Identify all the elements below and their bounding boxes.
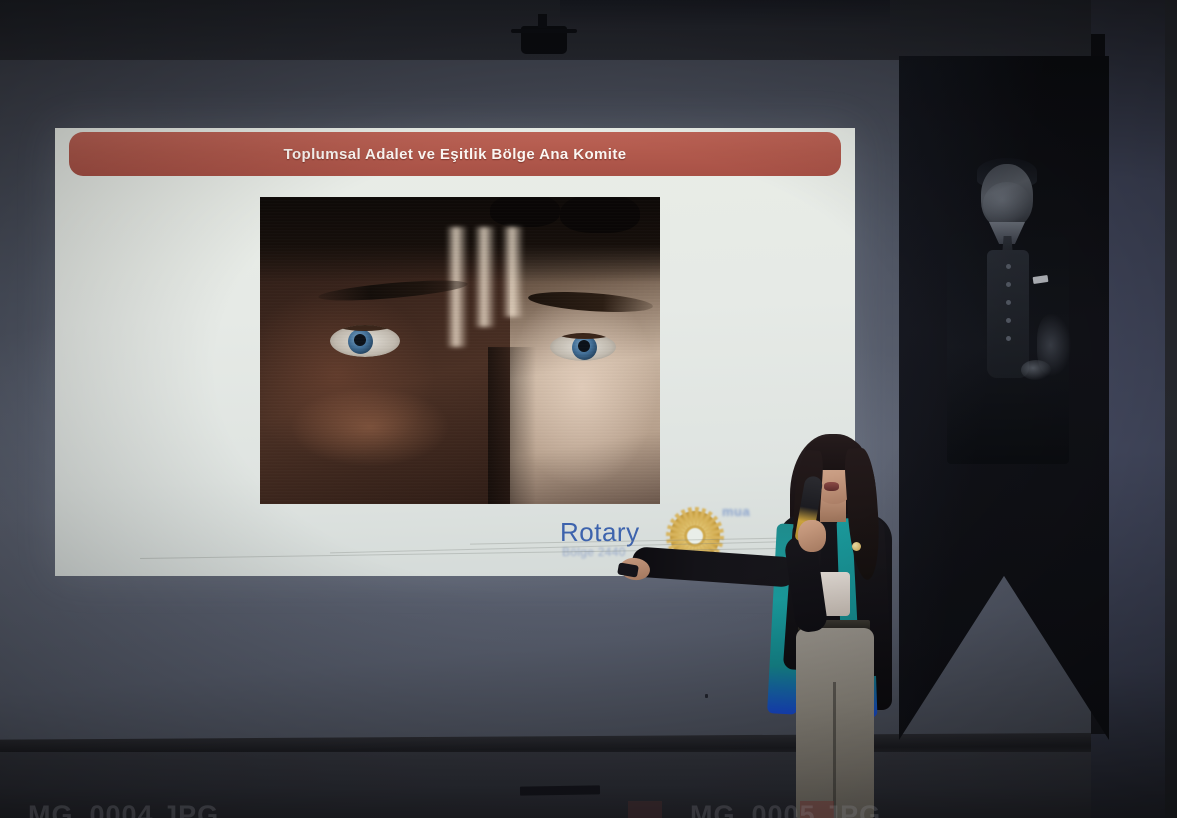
portrait-vest-button (1006, 336, 1011, 341)
filename-overlay-row: MG_0004.JPG MG_0005.JPG (0, 800, 1177, 818)
ceiling-beam (560, 0, 890, 30)
face-light-stripe (502, 227, 524, 317)
portrait-vest (987, 250, 1029, 378)
portrait-vest-button (1006, 264, 1011, 269)
face-cheek-highlight (290, 387, 450, 467)
eye-right (550, 333, 616, 361)
slide-title-banner: Toplumsal Adalet ve Eşitlik Bölge Ana Ko… (69, 132, 841, 176)
slide-photo-split-face (260, 197, 660, 504)
face-hair-tuft (490, 197, 560, 227)
speaker-extended-arm (631, 546, 797, 587)
speaker-brooch (852, 542, 861, 551)
slide-title: Toplumsal Adalet ve Eşitlik Bölge Ana Ko… (284, 146, 627, 163)
pupil (578, 340, 590, 352)
floor-cable (520, 785, 600, 795)
pupil (354, 334, 366, 346)
portrait-vest-button (1006, 318, 1011, 323)
face-center-shadow (488, 347, 536, 504)
speaker-mouth (824, 482, 839, 491)
presentation-clicker-icon (617, 562, 639, 577)
filename-left: MG_0004.JPG (28, 800, 219, 818)
portrait-hand (1021, 360, 1051, 380)
frame-right-edge (1165, 0, 1177, 818)
portrait-vest-button (1006, 282, 1011, 287)
banner-portrait (933, 164, 1083, 464)
speaker-mic-hand (798, 520, 826, 552)
ceiling-projector-icon (521, 26, 567, 54)
portrait-vest-button (1006, 300, 1011, 305)
portrait-face-light (983, 182, 1031, 226)
presentation-photograph: Toplumsal Adalet ve Eşitlik Bölge Ana Ko… (0, 0, 1177, 818)
face-light-stripe (474, 227, 496, 327)
filename-right: MG_0005.JPG (690, 800, 881, 818)
speaker-leg-seam (833, 682, 836, 818)
eye-left (330, 325, 400, 357)
speaker-person (612, 432, 902, 818)
face-hair-tuft (560, 197, 640, 233)
